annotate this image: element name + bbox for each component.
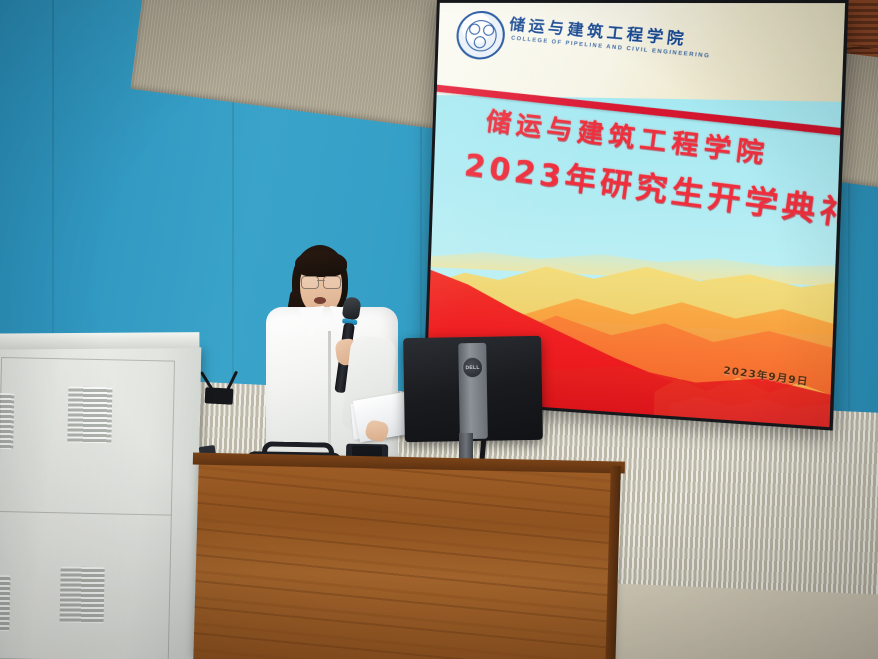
cabinet-vent-louver xyxy=(0,393,14,449)
dell-logo-icon: DELL xyxy=(462,357,483,378)
equipment-cabinet xyxy=(0,343,201,659)
university-seal-logo-icon xyxy=(454,9,507,61)
mouth xyxy=(314,297,326,304)
dell-monitor: DELL xyxy=(403,336,543,442)
cabinet-top-surface xyxy=(0,332,199,350)
wireless-router xyxy=(205,387,234,404)
cabinet-vent-louver xyxy=(67,386,112,443)
monitor-stand-spine: DELL xyxy=(458,343,488,439)
cabinet-vent-louver xyxy=(0,575,11,631)
hair-front xyxy=(295,251,347,277)
photo-scene: 2023年9月9日 储运与建筑工程学院 2023年研究生开学典礼 储运与建筑工程… xyxy=(0,0,878,659)
speaker-person xyxy=(262,245,402,475)
eyeglasses-icon xyxy=(300,276,342,287)
slide-header-banner: 储运与建筑工程学院 COLLEGE OF PIPELINE AND CIVIL … xyxy=(437,3,845,102)
cabinet-vent-louver xyxy=(60,566,105,623)
wooden-podium xyxy=(193,460,618,659)
